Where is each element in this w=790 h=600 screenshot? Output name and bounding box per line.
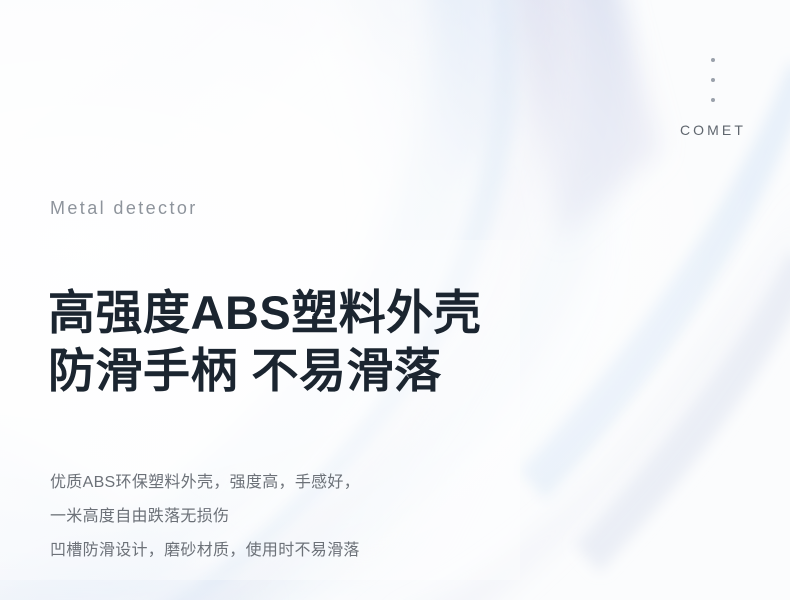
banner-content: COMET Metal detector 高强度ABS塑料外壳 防滑手柄 不易滑…	[0, 0, 790, 600]
brand-dot-icon-2	[711, 78, 715, 82]
headline-line-1: 高强度ABS塑料外壳	[48, 284, 481, 342]
description-text: 优质ABS环保塑料外壳，强度高，手感好， 一米高度自由跌落无损伤 凹槽防滑设计，…	[50, 466, 360, 568]
product-feature-banner: COMET Metal detector 高强度ABS塑料外壳 防滑手柄 不易滑…	[0, 0, 790, 600]
brand-dot-icon-1	[711, 58, 715, 62]
headline: 高强度ABS塑料外壳 防滑手柄 不易滑落	[48, 284, 481, 400]
brand-dot-icon-3	[711, 98, 715, 102]
description-line-1: 优质ABS环保塑料外壳，强度高，手感好，	[50, 466, 360, 500]
brand-dots	[711, 58, 715, 102]
description-line-3: 凹槽防滑设计，磨砂材质，使用时不易滑落	[50, 534, 360, 568]
brand-logo: COMET	[680, 58, 746, 138]
headline-line-2: 防滑手柄 不易滑落	[48, 342, 481, 400]
brand-name: COMET	[680, 122, 746, 138]
description-line-2: 一米高度自由跌落无损伤	[50, 500, 360, 534]
product-category-label: Metal detector	[50, 198, 198, 219]
